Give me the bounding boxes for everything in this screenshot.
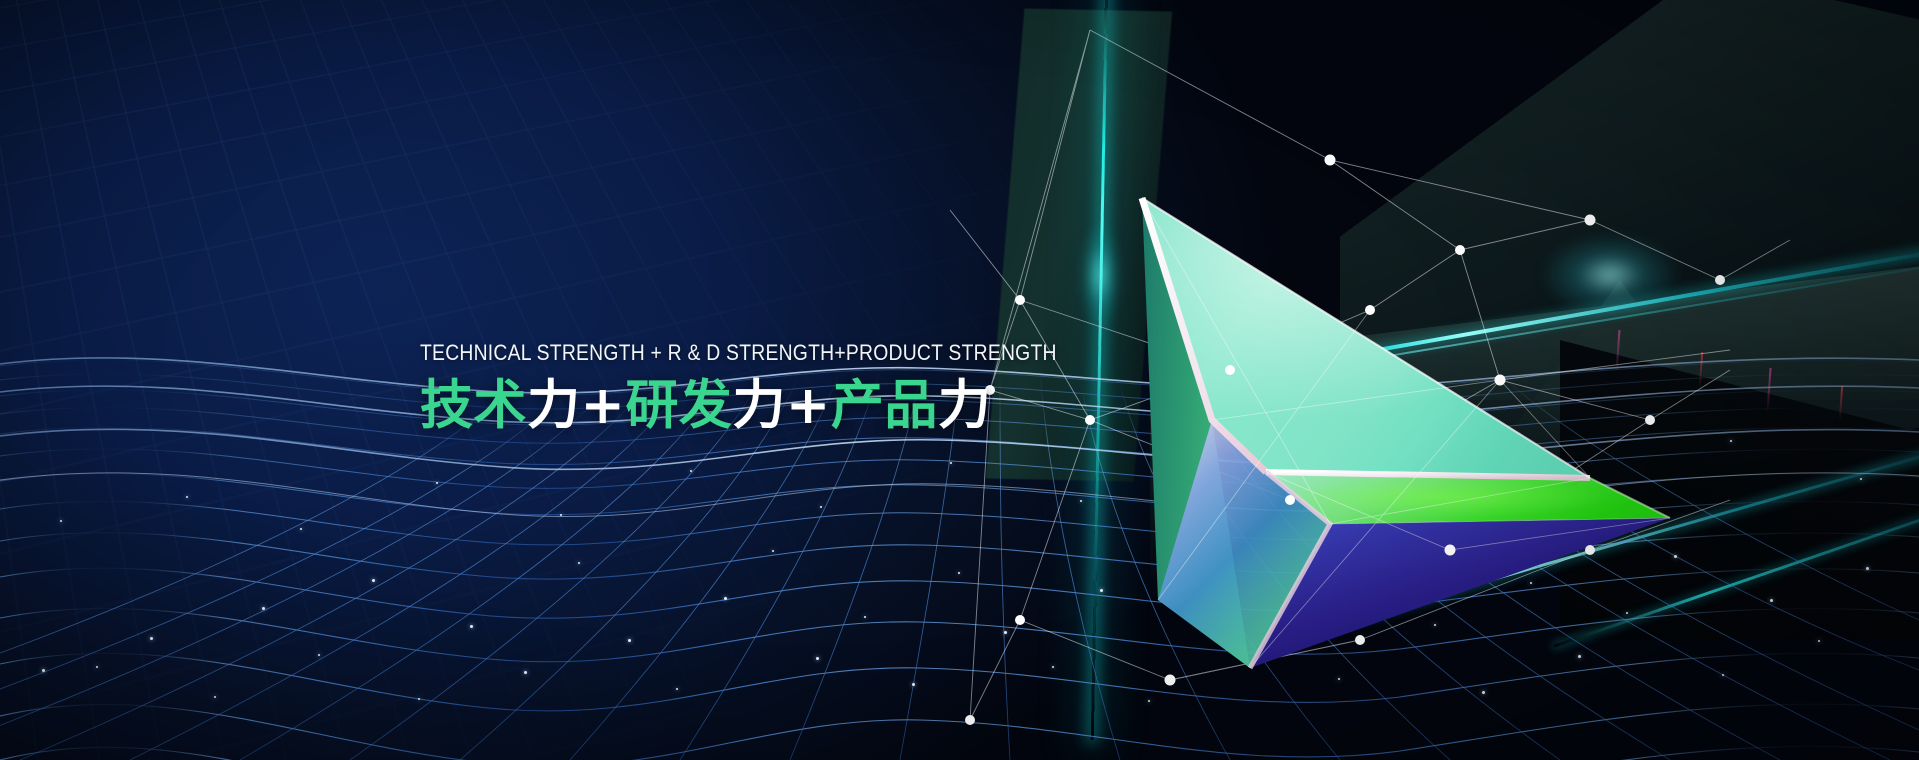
- headline-part-5: +: [786, 375, 831, 436]
- headline-part-4: 力: [732, 375, 786, 436]
- headline-part-7: 力: [938, 375, 992, 436]
- headline-part-6: 产品: [831, 375, 938, 436]
- headline-part-3: 研发: [625, 375, 732, 436]
- headline-part-0: 技术: [420, 375, 527, 436]
- hero-banner: TECHNICAL STRENGTH + R & D STRENGTH+PROD…: [0, 0, 1919, 760]
- hero-headline: 技术力+研发力+产品力: [420, 377, 1160, 434]
- hero-copy: TECHNICAL STRENGTH + R & D STRENGTH+PROD…: [420, 340, 1160, 434]
- hero-eyebrow: TECHNICAL STRENGTH + R & D STRENGTH+PROD…: [420, 340, 1057, 366]
- headline-part-1: 力: [527, 375, 581, 436]
- headline-part-2: +: [581, 375, 626, 436]
